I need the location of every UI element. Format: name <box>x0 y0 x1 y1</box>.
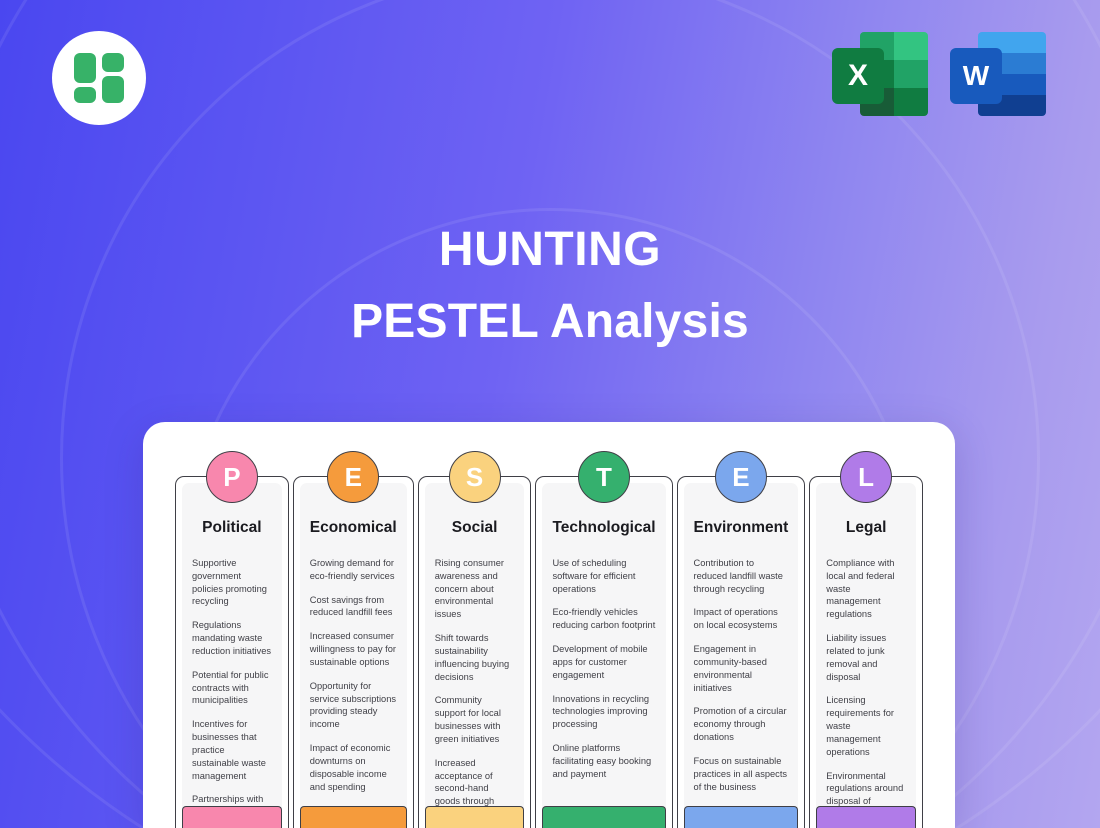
card-heading: Economical <box>310 519 397 537</box>
title-primary: HUNTING <box>0 222 1100 279</box>
point-list: Use of scheduling software for efficient… <box>552 557 655 781</box>
pestel-card-political[interactable]: PPoliticalSupportive government policies… <box>175 476 289 828</box>
list-item: Community support for local businesses w… <box>435 694 515 745</box>
grid-squares-icon <box>74 53 124 103</box>
point-list: Contribution to reduced landfill waste t… <box>694 557 789 793</box>
letter-badge: P <box>206 451 258 503</box>
card-heading: Political <box>192 519 272 537</box>
logo-square-top-right <box>102 53 124 72</box>
word-letter: W <box>950 48 1002 104</box>
letter-badge: L <box>840 451 892 503</box>
letter-badge: E <box>327 451 379 503</box>
card-color-bar <box>300 806 407 828</box>
letter-badge: E <box>715 451 767 503</box>
list-item: Contribution to reduced landfill waste t… <box>694 557 789 595</box>
list-item: Online platforms facilitating easy booki… <box>552 742 655 780</box>
slide-canvas: X W HUNTING PESTEL Analysis PPoliticalSu… <box>0 0 1100 828</box>
page-title: HUNTING PESTEL Analysis <box>0 222 1100 350</box>
list-item: Liability issues related to junk removal… <box>826 632 906 683</box>
list-item: Impact of economic downturns on disposab… <box>310 742 397 793</box>
card-color-bar <box>816 806 916 828</box>
list-item: Impact of operations on local ecosystems <box>694 606 789 632</box>
card-heading: Environment <box>694 519 789 537</box>
card-color-bar <box>182 806 282 828</box>
card-content: PoliticalSupportive government policies … <box>182 483 282 828</box>
letter-badge: T <box>578 451 630 503</box>
card-heading: Legal <box>826 519 906 537</box>
app-logo <box>52 31 146 125</box>
card-color-bar <box>684 806 799 828</box>
pestel-card-technological[interactable]: TTechnologicalUse of scheduling software… <box>535 476 672 828</box>
pestel-card-social[interactable]: SSocialRising consumer awareness and con… <box>418 476 532 828</box>
list-item: Rising consumer awareness and concern ab… <box>435 557 515 621</box>
card-content: EnvironmentContribution to reduced landf… <box>684 483 799 828</box>
list-item: Promotion of a circular economy through … <box>694 705 789 743</box>
excel-cell-top-right <box>894 32 928 60</box>
card-heading: Technological <box>552 519 655 537</box>
pestel-card-environment[interactable]: EEnvironmentContribution to reduced land… <box>677 476 806 828</box>
list-item: Growing demand for eco-friendly services <box>310 557 397 583</box>
word-icon[interactable]: W <box>950 28 1046 120</box>
card-content: SocialRising consumer awareness and conc… <box>425 483 525 828</box>
list-item: Licensing requirements for waste managem… <box>826 694 906 758</box>
card-content: EconomicalGrowing demand for eco-friendl… <box>300 483 407 828</box>
logo-square-bottom-left <box>74 87 96 103</box>
excel-cell-mid-right <box>894 60 928 88</box>
card-color-bar <box>542 806 665 828</box>
list-item: Regulations mandating waste reduction in… <box>192 619 272 657</box>
pestel-columns: PPoliticalSupportive government policies… <box>175 476 923 828</box>
pestel-card-economical[interactable]: EEconomicalGrowing demand for eco-friend… <box>293 476 414 828</box>
list-item: Compliance with local and federal waste … <box>826 557 906 621</box>
excel-icon[interactable]: X <box>832 28 928 120</box>
point-list: Compliance with local and federal waste … <box>826 557 906 828</box>
list-item: Focus on sustainable practices in all as… <box>694 755 789 793</box>
list-item: Supportive government policies promoting… <box>192 557 272 608</box>
logo-square-top-left <box>74 53 96 83</box>
list-item: Increased consumer willingness to pay fo… <box>310 630 397 668</box>
excel-letter: X <box>832 48 884 104</box>
list-item: Eco-friendly vehicles reducing carbon fo… <box>552 606 655 632</box>
letter-badge: S <box>449 451 501 503</box>
point-list: Rising consumer awareness and concern ab… <box>435 557 515 828</box>
point-list: Supportive government policies promoting… <box>192 557 272 828</box>
list-item: Shift towards sustainability influencing… <box>435 632 515 683</box>
office-export-icons: X W <box>832 28 1046 120</box>
card-color-bar <box>425 806 525 828</box>
list-item: Engagement in community-based environmen… <box>694 643 789 694</box>
logo-square-bottom-right <box>102 76 124 103</box>
list-item: Development of mobile apps for customer … <box>552 643 655 681</box>
list-item: Incentives for businesses that practice … <box>192 718 272 782</box>
excel-cell-bottom-right <box>894 88 928 116</box>
card-content: TechnologicalUse of scheduling software … <box>542 483 665 828</box>
list-item: Cost savings from reduced landfill fees <box>310 594 397 620</box>
pestel-panel: PPoliticalSupportive government policies… <box>143 422 955 828</box>
point-list: Growing demand for eco-friendly services… <box>310 557 397 793</box>
title-secondary: PESTEL Analysis <box>0 293 1100 351</box>
list-item: Opportunity for service subscriptions pr… <box>310 680 397 731</box>
card-content: LegalCompliance with local and federal w… <box>816 483 916 828</box>
pestel-card-legal[interactable]: LLegalCompliance with local and federal … <box>809 476 923 828</box>
list-item: Innovations in recycling technologies im… <box>552 693 655 731</box>
list-item: Use of scheduling software for efficient… <box>552 557 655 595</box>
card-heading: Social <box>435 519 515 537</box>
list-item: Potential for public contracts with muni… <box>192 669 272 707</box>
